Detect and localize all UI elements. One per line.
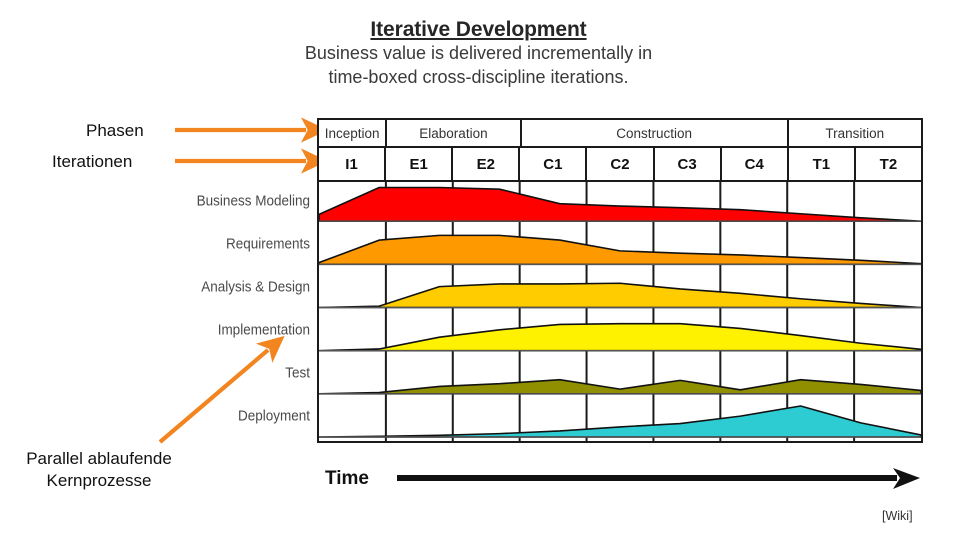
- discipline-label-requirements: Requirements: [226, 235, 310, 252]
- annotation-kernprozesse-line-1: Parallel ablaufende: [26, 449, 172, 468]
- area-band-requirements: [319, 235, 921, 264]
- iteration-cell-label: T2: [880, 156, 898, 173]
- iteration-cell-e2[interactable]: E2: [453, 148, 520, 180]
- time-arrow-icon: [397, 466, 925, 496]
- iteration-cell-c2[interactable]: C2: [587, 148, 654, 180]
- iteration-cell-label: C4: [745, 156, 764, 173]
- wiki-credit: [Wiki]: [882, 509, 913, 523]
- phase-cell-label: Transition: [825, 126, 884, 141]
- annotation-kernprozesse-line-2: Kernprozesse: [47, 471, 152, 490]
- iteration-cell-label: C3: [678, 156, 697, 173]
- annotation-phasen: Phasen: [86, 121, 144, 141]
- iteration-cell-t2[interactable]: T2: [856, 148, 921, 180]
- phase-cell-label: Elaboration: [419, 126, 487, 141]
- iteration-cell-label: T1: [813, 156, 831, 173]
- annotation-iterationen: Iterationen: [52, 152, 132, 172]
- phase-cell-label: Construction: [616, 126, 692, 141]
- phase-cell-elaboration[interactable]: Elaboration: [387, 120, 521, 146]
- time-axis-label: Time: [325, 468, 369, 490]
- subtitle-line-1: Business value is delivered incrementall…: [0, 42, 957, 65]
- phase-cell-construction[interactable]: Construction: [522, 120, 789, 146]
- iteration-cell-label: C1: [543, 156, 562, 173]
- discipline-label-test: Test: [285, 364, 310, 381]
- iteration-cell-label: E2: [477, 156, 495, 173]
- iteration-cell-c3[interactable]: C3: [655, 148, 722, 180]
- iteration-cell-i1[interactable]: I1: [319, 148, 386, 180]
- arrow-kernprozesse-icon: [160, 350, 268, 442]
- phase-cell-transition[interactable]: Transition: [789, 120, 921, 146]
- phase-cell-label: Inception: [325, 126, 380, 141]
- iteration-cell-label: E1: [409, 156, 427, 173]
- discipline-label-implementation: Implementation: [218, 321, 310, 338]
- iteration-cell-e1[interactable]: E1: [386, 148, 453, 180]
- area-band-analysis-design: [319, 283, 921, 307]
- phase-cell-inception[interactable]: Inception: [319, 120, 387, 146]
- page-title: Iterative Development: [0, 18, 957, 42]
- iteration-cell-label: C2: [610, 156, 629, 173]
- iteration-cell-c1[interactable]: C1: [520, 148, 587, 180]
- area-band-business-modeling: [319, 188, 921, 222]
- title-block: Iterative Development Business value is …: [0, 18, 957, 89]
- area-band-test: [319, 380, 921, 394]
- chart-frame: InceptionElaborationConstructionTransiti…: [317, 118, 923, 443]
- discipline-label-business-modeling: Business Modeling: [197, 192, 310, 209]
- iteration-cell-label: I1: [345, 156, 358, 173]
- discipline-label-deployment: Deployment: [238, 408, 310, 425]
- time-axis: Time: [325, 466, 925, 496]
- area-band-implementation: [319, 324, 921, 351]
- iteration-header-row: I1E1E2C1C2C3C4T1T2: [319, 148, 921, 182]
- discipline-label-analysis-design: Analysis & Design: [201, 278, 310, 295]
- iteration-cell-t1[interactable]: T1: [789, 148, 856, 180]
- iteration-cell-c4[interactable]: C4: [722, 148, 789, 180]
- subtitle-line-2: time-boxed cross-discipline iterations.: [0, 66, 957, 89]
- discipline-area-chart: [319, 182, 921, 441]
- annotation-kernprozesse: Parallel ablaufende Kernprozesse: [4, 448, 194, 492]
- area-band-deployment: [319, 406, 921, 437]
- plot-area: [319, 182, 921, 441]
- phase-header-row: InceptionElaborationConstructionTransiti…: [319, 120, 921, 148]
